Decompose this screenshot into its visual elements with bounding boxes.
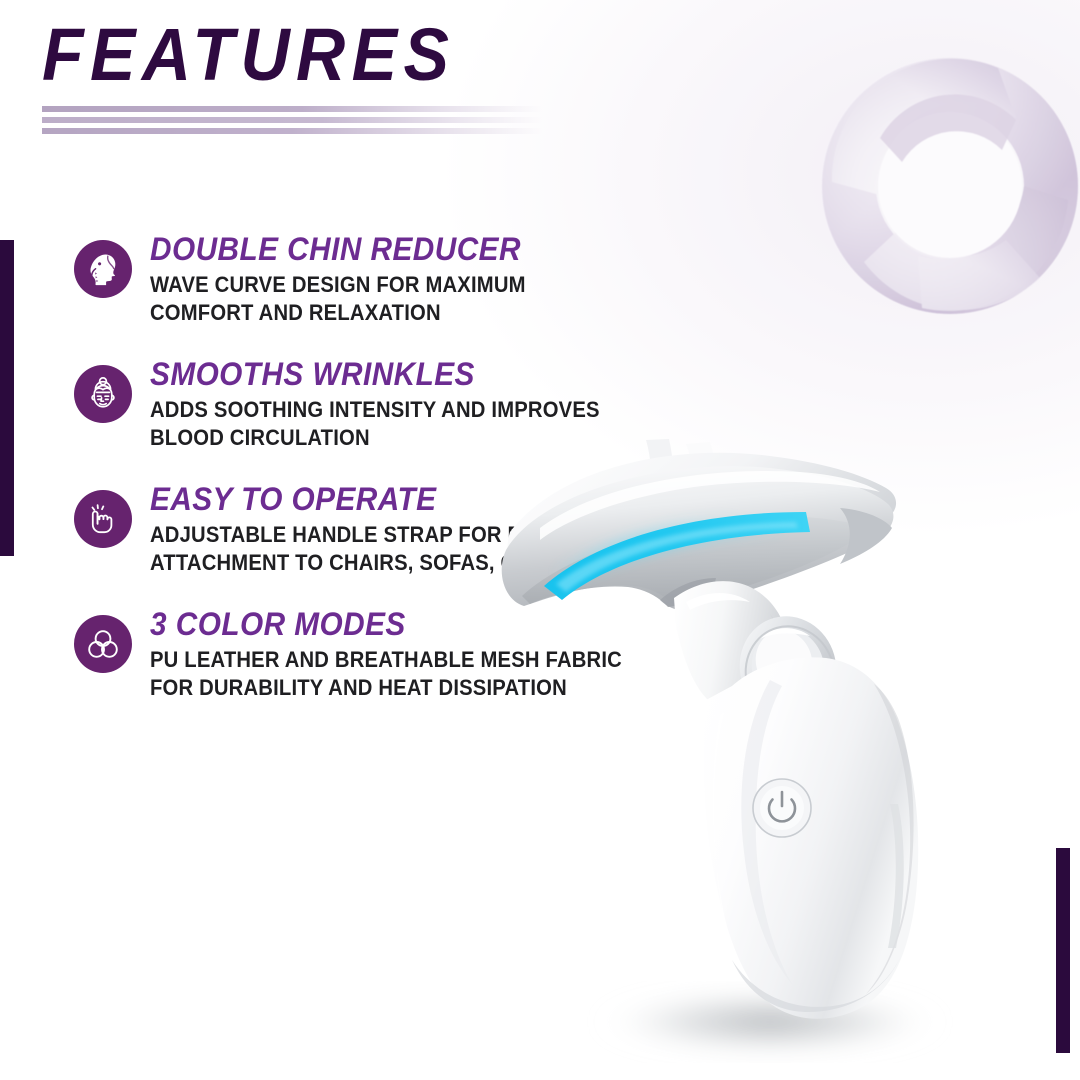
device-handle: [703, 657, 918, 1018]
torus-ribbon-decoration: [800, 0, 1080, 382]
feature-heading: SMOOTHS WRINKLES: [150, 355, 605, 393]
rule-3: [42, 128, 542, 134]
wrinkled-face-icon: [74, 365, 132, 423]
title-rules: [42, 106, 542, 134]
feature-heading: DOUBLE CHIN REDUCER: [150, 230, 530, 268]
left-accent-bar: [0, 240, 14, 556]
face-profile-chin-icon: [74, 240, 132, 298]
feature-body: WAVE CURVE DESIGN FOR MAXIMUM COMFORT AN…: [150, 271, 526, 327]
features-infographic: FEATURES: [0, 0, 1080, 1080]
power-button[interactable]: [753, 779, 811, 837]
feature-body-line: WAVE CURVE DESIGN FOR MAXIMUM: [150, 271, 526, 299]
feature-item: DOUBLE CHIN REDUCER WAVE CURVE DESIGN FO…: [74, 222, 634, 327]
title-block: FEATURES: [42, 16, 682, 139]
feature-body-line: COMFORT AND RELAXATION: [150, 299, 526, 327]
rule-1: [42, 106, 542, 112]
tap-hand-icon: [74, 490, 132, 548]
three-circles-venn-icon: [74, 615, 132, 673]
feature-text: DOUBLE CHIN REDUCER WAVE CURVE DESIGN FO…: [150, 222, 558, 327]
rule-2: [42, 117, 542, 123]
neck-and-face-lifting-device: [470, 400, 1080, 1080]
page-title: FEATURES: [42, 16, 631, 94]
